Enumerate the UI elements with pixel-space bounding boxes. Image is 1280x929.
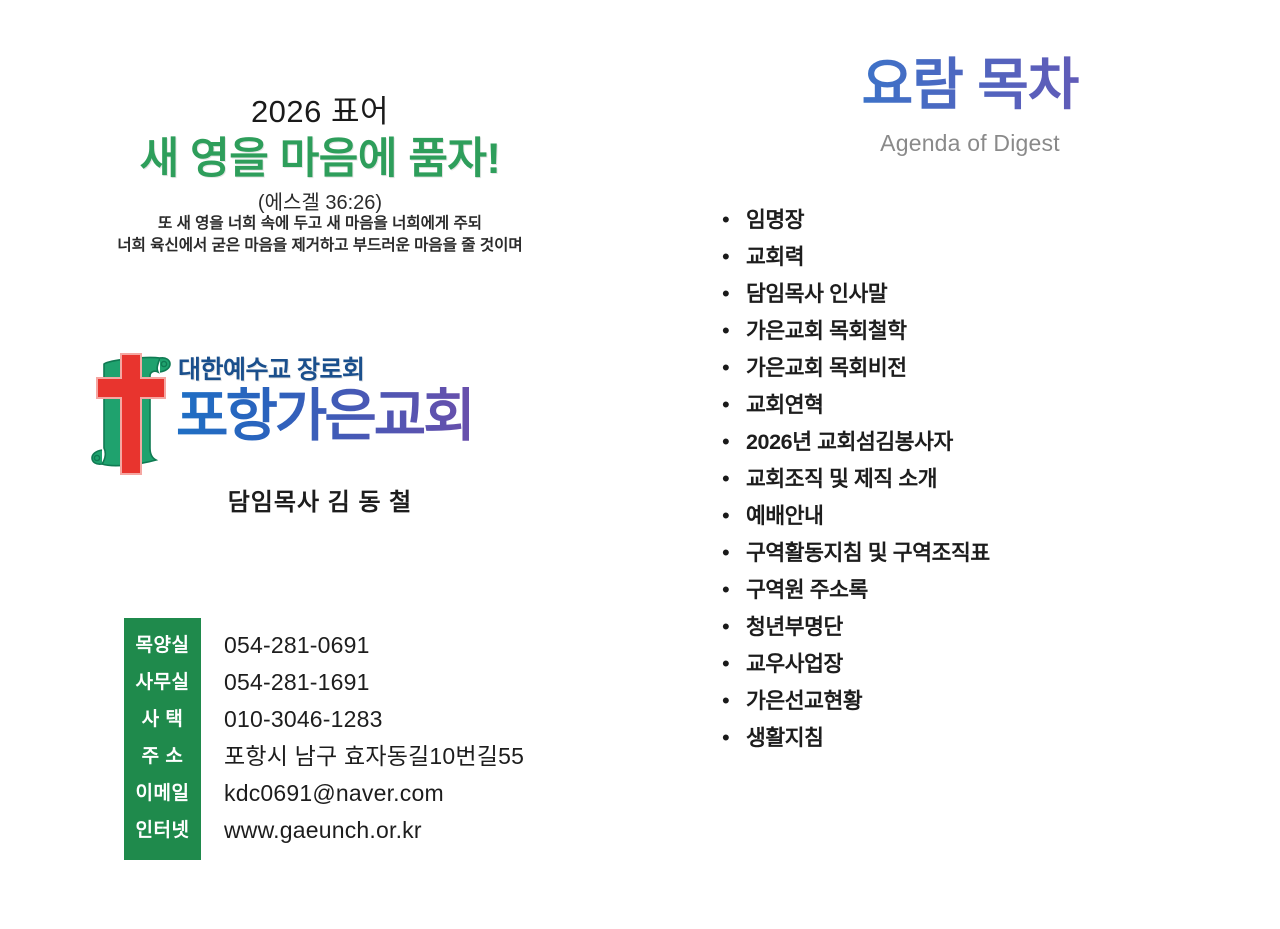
verse-line-1: 또 새 영을 너희 속에 두고 새 마음을 너희에게 주되: [0, 213, 640, 235]
bullet-icon: •: [722, 575, 746, 605]
toc-item-label: 가은교회 목회철학: [746, 316, 907, 346]
toc-item-label: 교회연혁: [746, 390, 824, 420]
toc-item-label: 교우사업장: [746, 649, 843, 679]
denomination-name: 대한예수교 장로회: [178, 358, 576, 383]
toc-item[interactable]: •구역활동지침 및 구역조직표: [722, 538, 1262, 575]
toc-subtitle: Agenda of Digest: [660, 130, 1280, 157]
motto-slogan: 새 영을 마음에 품자!: [0, 124, 640, 186]
contact-label: 이메일: [124, 775, 201, 812]
bullet-icon: •: [722, 538, 746, 568]
bullet-icon: •: [722, 612, 746, 642]
toc-item-label: 임명장: [746, 205, 804, 235]
contact-value-website[interactable]: www.gaeunch.or.kr: [224, 812, 524, 849]
left-cover-panel: 2026 표어 새 영을 마음에 품자! (에스겔 36:26) 또 새 영을 …: [0, 0, 660, 924]
cross-and-scroll-icon: [80, 348, 184, 478]
bullet-icon: •: [722, 390, 746, 420]
toc-item-label: 가은교회 목회비전: [746, 353, 907, 383]
toc-item[interactable]: •가은선교현황: [722, 686, 1262, 723]
toc-item-label: 생활지침: [746, 723, 824, 753]
bullet-icon: •: [722, 316, 746, 346]
bullet-icon: •: [722, 279, 746, 309]
church-logo: 대한예수교 장로회 포항가은교회: [80, 348, 570, 480]
toc-item[interactable]: •교회조직 및 제직 소개: [722, 464, 1262, 501]
toc-item[interactable]: •가은교회 목회비전: [722, 353, 1262, 390]
bullet-icon: •: [722, 686, 746, 716]
contact-value-column: 054-281-0691 054-281-1691 010-3046-1283 …: [224, 618, 524, 860]
contact-value-parsonage-phone: 010-3046-1283: [224, 701, 524, 738]
toc-item[interactable]: •교우사업장: [722, 649, 1262, 686]
contact-label: 사무실: [124, 664, 201, 701]
toc-list: •임명장•교회력•담임목사 인사말•가은교회 목회철학•가은교회 목회비전•교회…: [722, 205, 1262, 760]
verse-body: 또 새 영을 너희 속에 두고 새 마음을 너희에게 주되 너희 육신에서 굳은…: [0, 213, 640, 258]
toc-item[interactable]: •구역원 주소록: [722, 575, 1262, 612]
contact-value-pastoral-office-phone: 054-281-0691: [224, 627, 524, 664]
contact-label: 목양실: [124, 627, 201, 664]
toc-item[interactable]: •청년부명단: [722, 612, 1262, 649]
bullet-icon: •: [722, 723, 746, 753]
toc-item-label: 가은선교현황: [746, 686, 862, 716]
toc-item[interactable]: •담임목사 인사말: [722, 279, 1262, 316]
bullet-icon: •: [722, 427, 746, 457]
toc-item[interactable]: •2026년 교회섬김봉사자: [722, 427, 1262, 464]
contact-label: 주 소: [124, 738, 201, 775]
toc-title: 요람 목차: [660, 56, 1280, 115]
toc-item[interactable]: •생활지침: [722, 723, 1262, 760]
bullet-icon: •: [722, 464, 746, 494]
toc-item-label: 예배안내: [746, 501, 824, 531]
contact-value-office-phone: 054-281-1691: [224, 664, 524, 701]
toc-item[interactable]: •가은교회 목회철학: [722, 316, 1262, 353]
bullet-icon: •: [722, 649, 746, 679]
contact-value-address: 포항시 남구 효자동길10번길55: [224, 738, 524, 775]
toc-item[interactable]: •교회력: [722, 242, 1262, 279]
contact-label: 사 택: [124, 701, 201, 738]
church-name: 포항가은교회: [176, 387, 576, 447]
toc-item-label: 교회조직 및 제직 소개: [746, 464, 937, 494]
logo-wordmark: 대한예수교 장로회 포항가은교회: [176, 352, 576, 447]
verse-line-2: 너희 육신에서 굳은 마음을 제거하고 부드러운 마음을 줄 것이며: [0, 235, 640, 257]
contact-label-column: 목양실 사무실 사 택 주 소 이메일 인터넷: [124, 618, 201, 860]
toc-item-label: 2026년 교회섬김봉사자: [746, 427, 953, 457]
bullet-icon: •: [722, 353, 746, 383]
toc-item-label: 구역활동지침 및 구역조직표: [746, 538, 990, 568]
pastor-name: 담임목사 김 동 철: [0, 482, 640, 517]
toc-item-label: 교회력: [746, 242, 804, 272]
bullet-icon: •: [722, 501, 746, 531]
bullet-icon: •: [722, 242, 746, 272]
toc-item[interactable]: •임명장: [722, 205, 1262, 242]
table-of-contents-panel: 요람 목차 Agenda of Digest •임명장•교회력•담임목사 인사말…: [660, 0, 1280, 924]
contact-label: 인터넷: [124, 812, 201, 849]
verse-reference: (에스겔 36:26): [0, 186, 640, 215]
toc-item-label: 청년부명단: [746, 612, 843, 642]
brochure-page: 2026 표어 새 영을 마음에 품자! (에스겔 36:26) 또 새 영을 …: [0, 0, 1280, 924]
toc-item-label: 구역원 주소록: [746, 575, 868, 605]
toc-item[interactable]: •교회연혁: [722, 390, 1262, 427]
toc-item-label: 담임목사 인사말: [746, 279, 887, 309]
bullet-icon: •: [722, 205, 746, 235]
contact-value-email[interactable]: kdc0691@naver.com: [224, 775, 524, 812]
toc-item[interactable]: •예배안내: [722, 501, 1262, 538]
